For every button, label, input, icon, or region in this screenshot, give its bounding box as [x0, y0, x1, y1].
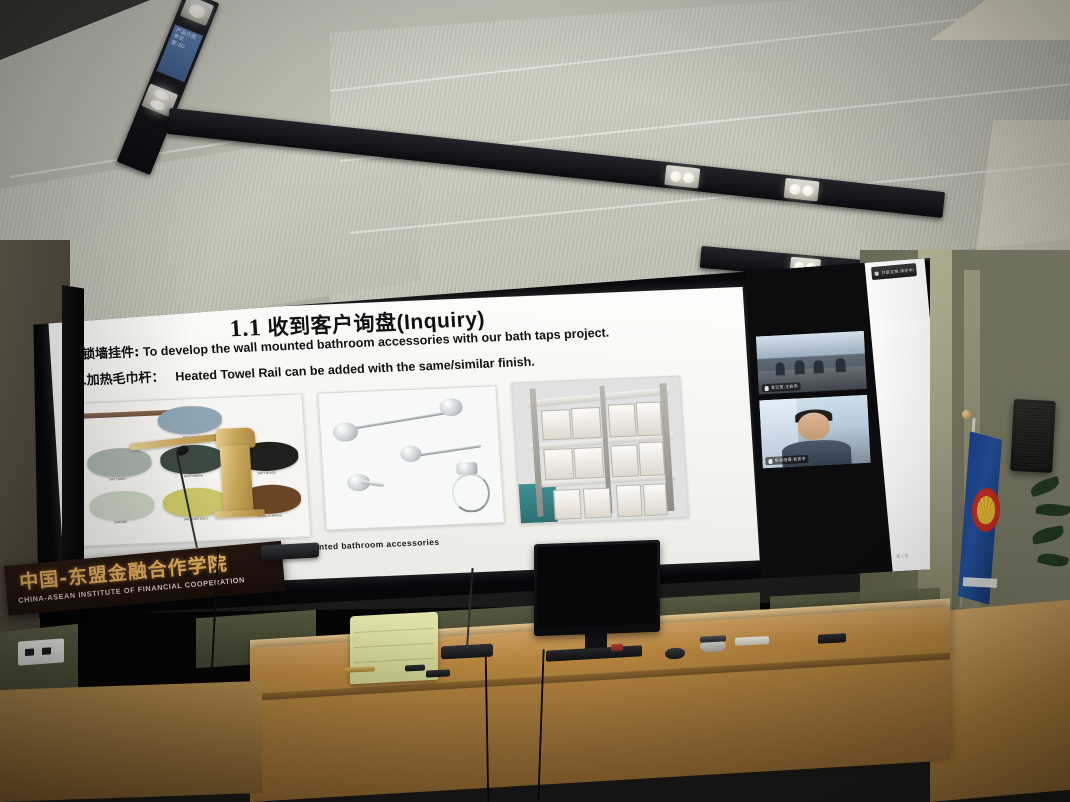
- chair-seam: [354, 658, 435, 663]
- document-page-indicator: 第 1 页: [896, 552, 909, 559]
- wall-control-panel[interactable]: [18, 638, 64, 665]
- swatch-matt-green: [159, 444, 225, 475]
- room-attendee: [835, 358, 845, 372]
- ceiling-spotlight: [784, 178, 820, 202]
- spotlight-bulb: [670, 170, 682, 182]
- plant-leaf: [1037, 551, 1069, 570]
- desk-marker-red[interactable]: [611, 644, 623, 652]
- flag-finial: [962, 410, 971, 419]
- warehouse-carton: [642, 483, 668, 515]
- chair-seam: [354, 643, 435, 648]
- bullet-2-chinese: 加热毛巾杆：: [86, 369, 165, 387]
- bullet-2-english: Heated Towel Rail can be added with the …: [175, 354, 535, 383]
- microphone-icon: [765, 385, 769, 390]
- video-tile-room-label: 会议室-主会场: [762, 382, 801, 392]
- bath-tap-column: [219, 444, 253, 513]
- towel-ring-mount: [456, 462, 478, 475]
- desk-remote[interactable]: [426, 669, 450, 677]
- video-tile-speaker[interactable]: 陈总经理-发言中: [760, 394, 872, 468]
- plant-leaf: [1029, 476, 1062, 498]
- document-toolbar[interactable]: 共享文档 演示中的内容: [871, 262, 917, 279]
- warehouse-carton: [635, 401, 662, 436]
- control-panel-button-icon[interactable]: [42, 647, 51, 655]
- potted-plant: [1030, 470, 1070, 620]
- ceiling-spotlight: [664, 165, 700, 189]
- video-tile-room-name: 会议室-主会场: [771, 383, 798, 390]
- room-ceiling: [756, 331, 865, 358]
- desk-device[interactable]: [818, 633, 846, 643]
- swatch-label-chrome: CHROME: [91, 519, 151, 525]
- swatch-label-matt-grey: MATT GREY: [88, 477, 148, 483]
- ceiling-room-sign-text: 产品介绍 会议室-3D: [170, 27, 197, 49]
- speaker-grille: [1014, 403, 1051, 469]
- ceiling-spotlight: [180, 0, 214, 26]
- warehouse-carton: [573, 447, 604, 479]
- spotlight-bulb: [789, 183, 801, 195]
- warehouse-carton: [552, 488, 581, 519]
- ceiling-corner-shadow: [0, 0, 150, 60]
- room-attendee: [794, 359, 804, 373]
- bullet-1-chinese: 锁墙挂件:: [82, 345, 140, 362]
- room-attendee: [814, 360, 824, 373]
- desk-remote[interactable]: [405, 664, 425, 671]
- swatch-label-matt-green: MATT GREEN: [164, 474, 224, 480]
- video-conference-panel[interactable]: 会议室-主会场 陈总经理-发言中: [745, 252, 943, 603]
- slide-image-chrome-accessories: [317, 384, 505, 530]
- conference-room-photo: 产品介绍 会议室-3D: [0, 0, 1070, 802]
- towel-bar-short: [411, 444, 481, 457]
- swatch-chrome: [89, 489, 155, 520]
- monitor-screen[interactable]: [537, 543, 657, 628]
- slide-image-warehouse: [511, 375, 688, 523]
- warehouse-carton: [638, 441, 665, 476]
- microphone-icon: [769, 458, 773, 463]
- warehouse-carton: [616, 484, 643, 516]
- spotlight-bulb: [187, 1, 208, 19]
- spotlight-bulb: [683, 171, 695, 183]
- towel-bar-mount-right: [439, 398, 463, 417]
- plant-leaf: [1035, 502, 1070, 519]
- warehouse-carton: [541, 409, 572, 440]
- towel-bar-mount-left: [332, 421, 358, 441]
- room-attendee: [775, 362, 785, 375]
- asean-flag-white-band: [963, 577, 997, 588]
- desktop-monitor[interactable]: [534, 540, 660, 636]
- warehouse-carton: [610, 444, 639, 478]
- warehouse-carton: [543, 448, 574, 480]
- chair-seam: [354, 628, 435, 633]
- office-chair[interactable]: [350, 612, 438, 685]
- control-panel-button-icon[interactable]: [25, 648, 34, 656]
- towel-bar-short-mount: [400, 445, 422, 462]
- table-microphone-base[interactable]: [261, 542, 319, 560]
- wall-speaker: [1010, 399, 1056, 473]
- warehouse-carton: [582, 487, 611, 518]
- podium-side-left: [0, 681, 262, 802]
- document-icon: [874, 270, 878, 274]
- spotlight-bulb: [802, 184, 814, 196]
- warehouse-carton: [607, 403, 636, 437]
- video-tile-room[interactable]: 会议室-主会场: [756, 331, 867, 395]
- towel-ring: [451, 472, 491, 513]
- video-tile-speaker-name: 陈总经理-发言中: [775, 456, 806, 464]
- podium-side-right: [930, 600, 1070, 802]
- plant-leaf: [1031, 525, 1065, 544]
- warehouse-carton: [571, 406, 602, 438]
- document-toolbar-label: 共享文档 演示中的内容: [881, 266, 914, 275]
- swatch-matt-grey: [86, 447, 152, 478]
